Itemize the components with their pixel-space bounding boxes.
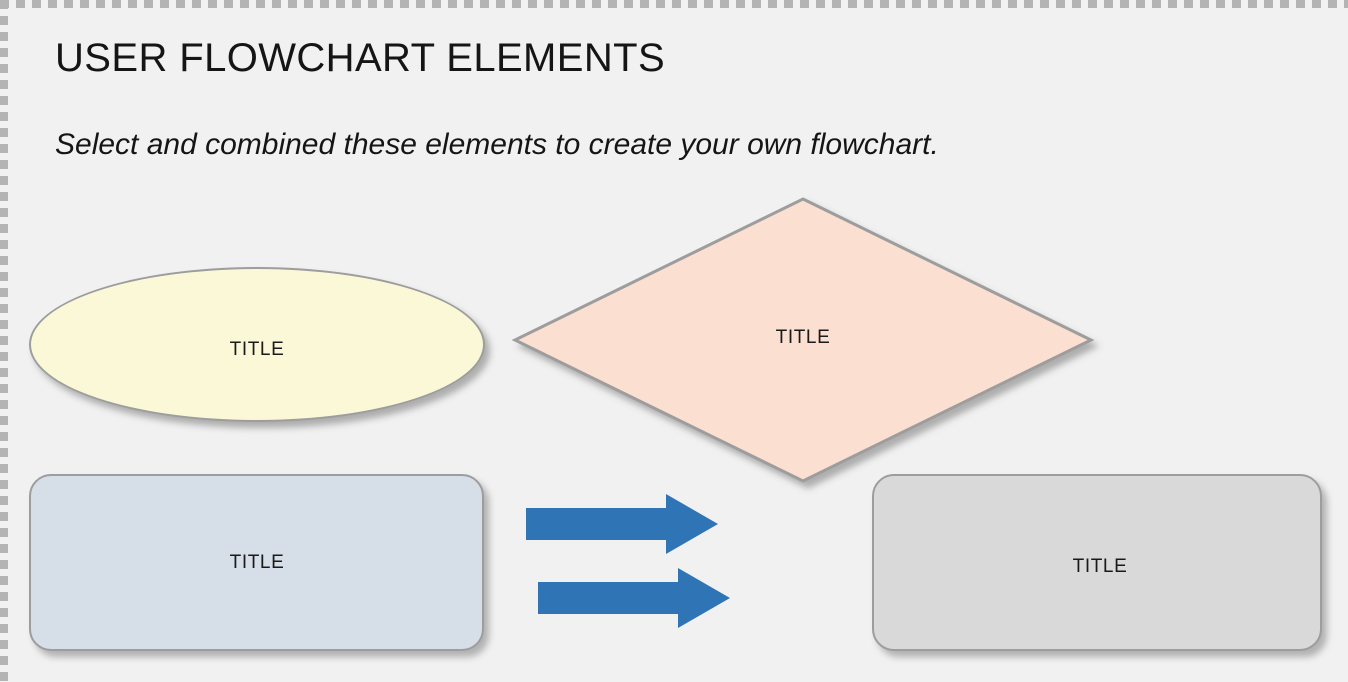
process-left-shape-label: TITLE	[230, 552, 285, 574]
page-subtitle: Select and combined these elements to cr…	[55, 128, 939, 162]
selection-frame-left	[0, 0, 8, 682]
arrow-right-bottom-icon[interactable]	[538, 568, 734, 628]
slide-canvas: USER FLOWCHART ELEMENTS Select and combi…	[0, 0, 1348, 682]
arrow-right-top-icon[interactable]	[526, 494, 722, 554]
ellipse-shape-label: TITLE	[230, 339, 285, 361]
process-right-shape-label: TITLE	[1073, 556, 1128, 578]
page-title: USER FLOWCHART ELEMENTS	[55, 36, 665, 81]
selection-frame-top	[0, 0, 1348, 8]
diamond-shape-label: TITLE	[776, 327, 831, 349]
